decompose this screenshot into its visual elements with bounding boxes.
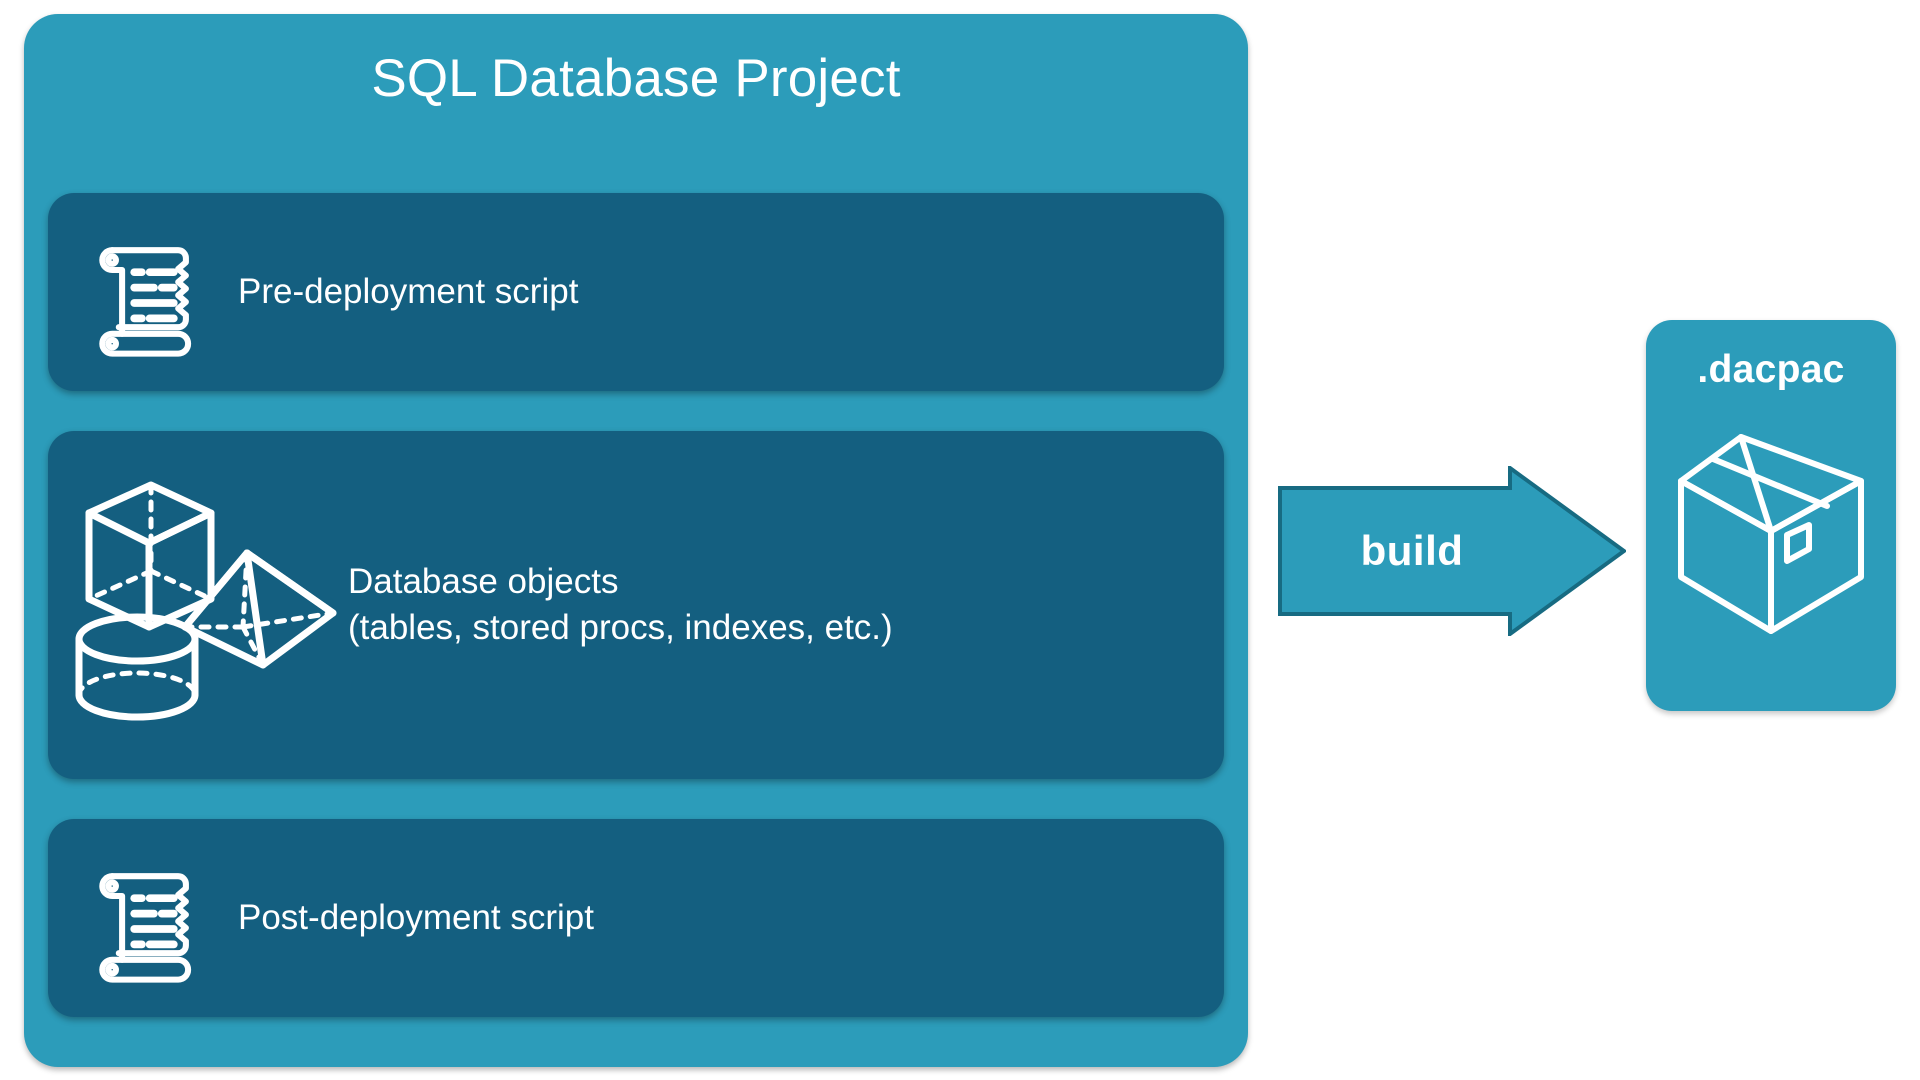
sql-database-project-container: SQL Database Project (24, 14, 1248, 1067)
diagram-canvas: SQL Database Project (0, 0, 1920, 1080)
pre-deployment-script-card[interactable]: Pre-deployment script (48, 193, 1224, 391)
right-arrow-icon (1278, 466, 1626, 636)
database-objects-label: Database objects (tables, stored procs, … (348, 559, 893, 651)
dacpac-title: .dacpac (1646, 348, 1896, 392)
3d-shapes-icon (48, 475, 348, 735)
page-title: SQL Database Project (24, 50, 1248, 108)
pre-deployment-script-label: Pre-deployment script (238, 269, 578, 315)
package-box-icon (1675, 423, 1867, 639)
scroll-icon (48, 852, 238, 984)
post-deployment-script-card[interactable]: Post-deployment script (48, 819, 1224, 1017)
dacpac-output-card[interactable]: .dacpac (1646, 320, 1896, 711)
post-deployment-script-label: Post-deployment script (238, 895, 594, 941)
scroll-icon (48, 226, 238, 358)
database-objects-card[interactable]: Database objects (tables, stored procs, … (48, 431, 1224, 779)
